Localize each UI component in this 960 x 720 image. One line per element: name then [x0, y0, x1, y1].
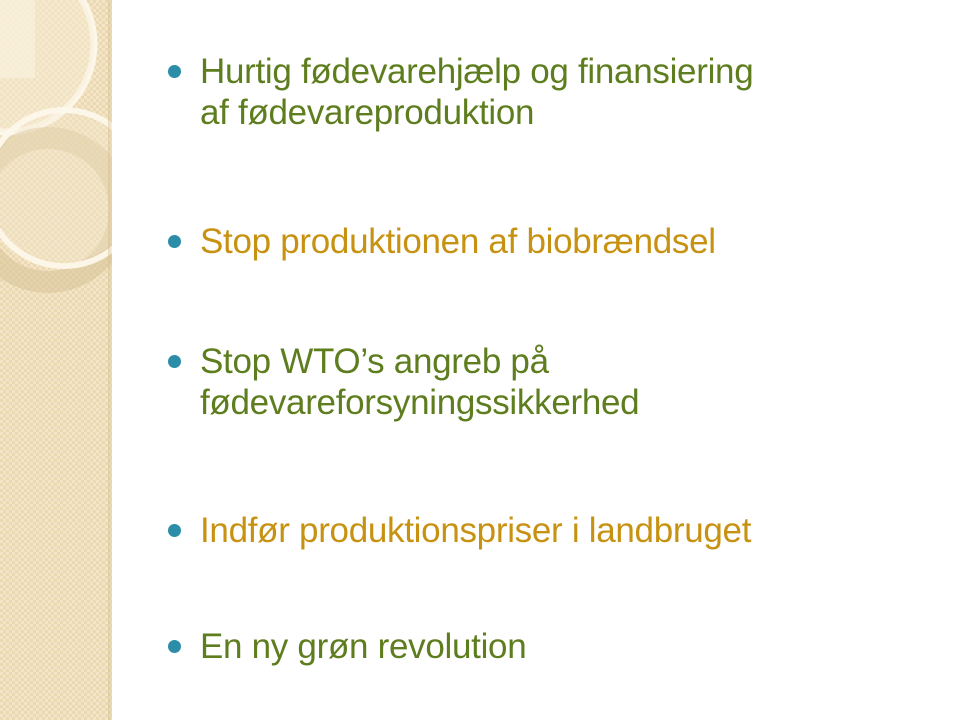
ring-outline-large-icon: [0, 0, 94, 132]
bullet-dot-icon: [168, 355, 181, 368]
list-item: Hurtig fødevarehjælp og finansiering af …: [168, 52, 928, 133]
sidebar-right-edge: [108, 0, 112, 720]
decorative-sidebar: [0, 0, 112, 720]
bullet-dot-icon: [168, 65, 181, 78]
bullet-text: Hurtig fødevarehjælp og finansiering af …: [200, 52, 918, 133]
bullet-text: Stop produktionen af biobrændsel: [200, 222, 928, 263]
bullet-text: Indfør produktionspriser i landbruget: [200, 511, 928, 552]
ring-white-thin-icon: [0, 110, 112, 266]
bullet-text: Stop WTO’s angreb på fødevareforsyningss…: [200, 342, 918, 423]
presentation-slide: Hurtig fødevarehjælp og finansiering af …: [0, 0, 960, 720]
bullet-dot-icon: [168, 524, 181, 537]
list-item: Stop WTO’s angreb på fødevareforsyningss…: [168, 342, 928, 423]
ring-white-inner-tint-icon: [0, 114, 112, 262]
ring-fill-large-icon: [0, 0, 94, 132]
list-item: En ny grøn revolution: [168, 627, 928, 668]
bullet-dot-icon: [168, 640, 181, 653]
bullet-dot-icon: [168, 235, 181, 248]
bullet-list: Hurtig fødevarehjælp og finansiering af …: [168, 0, 928, 720]
panel-highlight-rect: [0, 0, 35, 78]
ring-tan-thick-icon: [0, 138, 112, 282]
bullet-text: En ny grøn revolution: [200, 627, 928, 668]
sidebar-ornament-group: [0, 0, 112, 720]
list-item: Stop produktionen af biobrændsel: [168, 222, 928, 263]
list-item: Indfør produktionspriser i landbruget: [168, 511, 928, 552]
